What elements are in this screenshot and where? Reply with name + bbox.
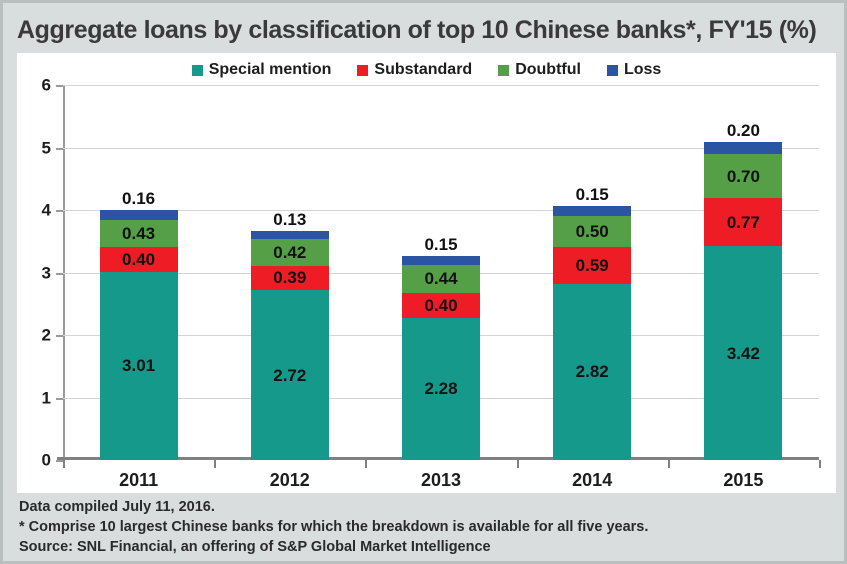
bar-stack[interactable]: 2.720.390.420.13 bbox=[251, 231, 329, 460]
y-axis-tick-label: 0 bbox=[42, 452, 51, 469]
footnote-line: Source: SNL Financial, an offering of S&… bbox=[19, 537, 839, 557]
bar-value-label: 0.70 bbox=[727, 168, 760, 185]
bar-segment[interactable]: 0.70 bbox=[704, 154, 782, 198]
bar-stack[interactable]: 3.420.770.700.20 bbox=[704, 142, 782, 460]
legend-item-label: Loss bbox=[624, 62, 661, 78]
bar-segment[interactable]: 3.42 bbox=[704, 246, 782, 460]
y-axis-tick-mark bbox=[56, 335, 63, 337]
x-axis-tick-mark bbox=[517, 460, 519, 468]
bar-value-label: 0.40 bbox=[122, 251, 155, 268]
legend-item[interactable]: Substandard bbox=[357, 62, 472, 78]
bar-value-label: 0.44 bbox=[424, 270, 457, 287]
legend-item-label: Substandard bbox=[374, 62, 472, 78]
bar-segment[interactable]: 2.72 bbox=[251, 290, 329, 460]
bar-segment[interactable]: 0.43 bbox=[100, 220, 178, 247]
bar-segment[interactable] bbox=[704, 142, 782, 155]
bar-segment[interactable]: 0.40 bbox=[100, 247, 178, 272]
x-axis-tick-mark bbox=[819, 460, 821, 468]
gridline bbox=[63, 85, 819, 86]
legend-item-label: Doubtful bbox=[515, 62, 581, 78]
bar-top-value-label: 0.13 bbox=[273, 211, 306, 228]
bar-top-value-label: 0.15 bbox=[424, 236, 457, 253]
y-axis-tick-label: 2 bbox=[42, 327, 51, 344]
bar-value-label: 0.59 bbox=[576, 257, 609, 274]
x-axis-tick-label: 2012 bbox=[270, 471, 310, 489]
y-axis-tick-label: 5 bbox=[42, 139, 51, 156]
x-axis-tick-label: 2013 bbox=[421, 471, 461, 489]
bar-segment[interactable]: 2.82 bbox=[553, 284, 631, 460]
bar-value-label: 0.39 bbox=[273, 269, 306, 286]
y-axis-tick-mark bbox=[56, 85, 63, 87]
x-axis-tick-mark bbox=[365, 460, 367, 468]
chart-figure: Aggregate loans by classification of top… bbox=[0, 0, 847, 564]
bar-segment[interactable]: 0.40 bbox=[402, 293, 480, 318]
legend-swatch-icon bbox=[607, 65, 618, 76]
bar-segment[interactable]: 0.42 bbox=[251, 239, 329, 265]
legend-item[interactable]: Doubtful bbox=[498, 62, 581, 78]
bar-stack[interactable]: 3.010.400.430.16 bbox=[100, 210, 178, 460]
bar-top-value-label: 0.15 bbox=[576, 186, 609, 203]
legend-item[interactable]: Special mention bbox=[192, 62, 332, 78]
bar-segment[interactable]: 0.44 bbox=[402, 265, 480, 293]
legend-item[interactable]: Loss bbox=[607, 62, 661, 78]
chart-panel: Special mentionSubstandardDoubtfulLoss 0… bbox=[17, 53, 836, 493]
bar-value-label: 0.42 bbox=[273, 244, 306, 261]
legend-item-label: Special mention bbox=[209, 62, 332, 78]
bar-value-label: 0.50 bbox=[576, 223, 609, 240]
bar-segment[interactable]: 2.28 bbox=[402, 318, 480, 461]
bar-value-label: 0.77 bbox=[727, 214, 760, 231]
bar-value-label: 0.43 bbox=[122, 225, 155, 242]
bar-top-value-label: 0.20 bbox=[727, 122, 760, 139]
y-axis-tick-mark bbox=[56, 148, 63, 150]
bar-segment[interactable]: 3.01 bbox=[100, 272, 178, 460]
x-axis-tick-label: 2014 bbox=[572, 471, 612, 489]
bar-segment[interactable]: 0.59 bbox=[553, 247, 631, 284]
chart-footnotes: Data compiled July 11, 2016.* Comprise 1… bbox=[19, 497, 839, 557]
footnote-line: * Comprise 10 largest Chinese banks for … bbox=[19, 517, 839, 537]
y-axis-tick-mark bbox=[56, 460, 63, 462]
bar-segment[interactable]: 0.77 bbox=[704, 198, 782, 246]
y-axis-tick-mark bbox=[56, 273, 63, 275]
x-axis-tick-label: 2011 bbox=[119, 471, 158, 489]
x-axis-tick-mark bbox=[668, 460, 670, 468]
bar-value-label: 0.40 bbox=[424, 297, 457, 314]
bar-top-value-label: 0.16 bbox=[122, 190, 155, 207]
legend-swatch-icon bbox=[192, 65, 203, 76]
bar-value-label: 2.28 bbox=[424, 380, 457, 397]
y-axis-tick-label: 1 bbox=[42, 389, 51, 406]
bar-segment[interactable]: 0.50 bbox=[553, 216, 631, 247]
legend-swatch-icon bbox=[357, 65, 368, 76]
y-axis-tick-mark bbox=[56, 398, 63, 400]
x-axis-tick-mark bbox=[63, 460, 65, 468]
page-title: Aggregate loans by classification of top… bbox=[17, 11, 837, 49]
y-axis-tick-label: 6 bbox=[42, 77, 51, 94]
x-axis-tick-label: 2015 bbox=[723, 471, 763, 489]
bar-segment[interactable]: 0.39 bbox=[251, 266, 329, 290]
bar-value-label: 2.72 bbox=[273, 367, 306, 384]
bar-value-label: 3.01 bbox=[122, 357, 155, 374]
bar-segment[interactable] bbox=[100, 210, 178, 220]
bar-stack[interactable]: 2.820.590.500.15 bbox=[553, 206, 631, 460]
footnote-line: Data compiled July 11, 2016. bbox=[19, 497, 839, 517]
chart-legend: Special mentionSubstandardDoubtfulLoss bbox=[17, 57, 836, 83]
plot-area: 012345620113.010.400.430.1620122.720.390… bbox=[63, 85, 819, 460]
y-axis-tick-mark bbox=[56, 210, 63, 212]
legend-swatch-icon bbox=[498, 65, 509, 76]
bar-segment[interactable] bbox=[251, 231, 329, 239]
bar-segment[interactable] bbox=[553, 206, 631, 215]
x-axis-tick-mark bbox=[214, 460, 216, 468]
y-axis-tick-label: 4 bbox=[42, 202, 51, 219]
bar-value-label: 3.42 bbox=[727, 345, 760, 362]
y-axis-tick-label: 3 bbox=[42, 264, 51, 281]
bar-value-label: 2.82 bbox=[576, 363, 609, 380]
bar-segment[interactable] bbox=[402, 256, 480, 265]
bar-stack[interactable]: 2.280.400.440.15 bbox=[402, 256, 480, 460]
